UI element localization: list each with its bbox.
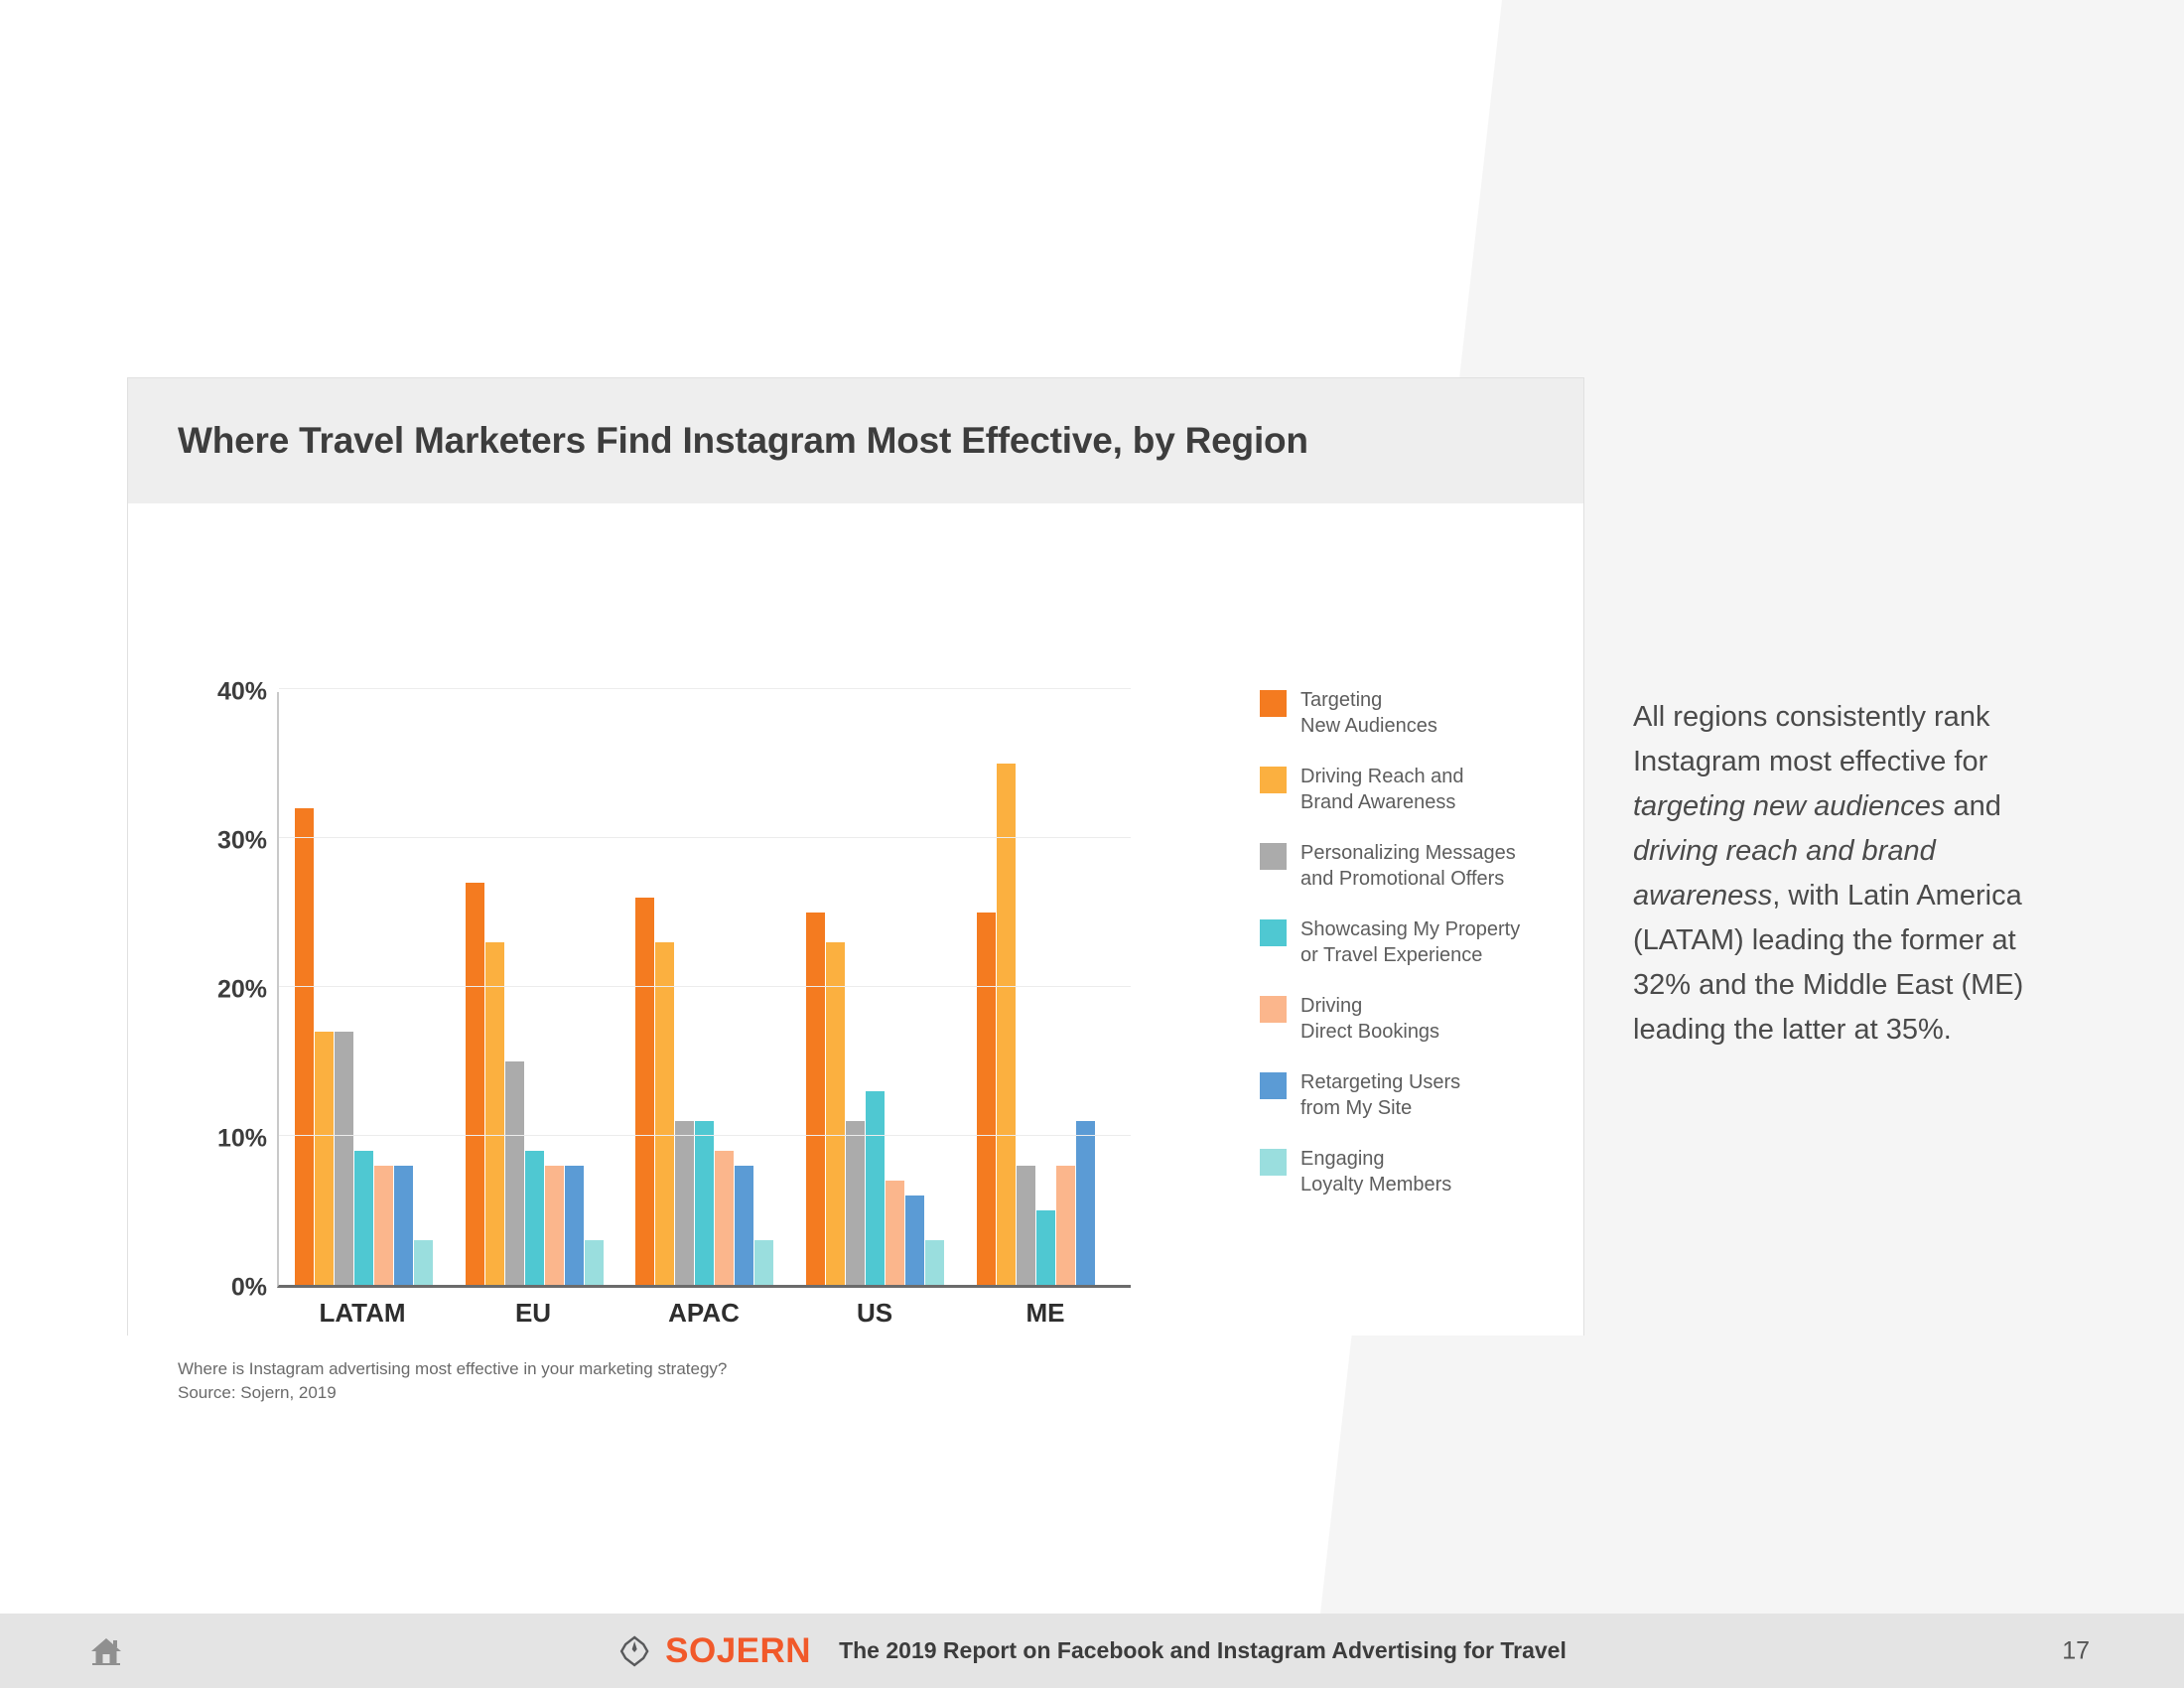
x-axis-label-apac: APAC <box>629 1298 778 1329</box>
gridline <box>279 1135 1131 1136</box>
footer-report-title: The 2019 Report on Facebook and Instagra… <box>839 1637 1567 1664</box>
bar[interactable] <box>1036 1210 1055 1285</box>
legend-item[interactable]: Personalizing Messages and Promotional O… <box>1260 840 1558 892</box>
bar[interactable] <box>335 1032 353 1285</box>
commentary-emphasis-1: targeting new audiences <box>1633 790 1945 822</box>
legend-color-swatch <box>1260 996 1287 1023</box>
legend-item[interactable]: Showcasing My Property or Travel Experie… <box>1260 916 1558 968</box>
bar[interactable] <box>374 1166 393 1285</box>
bar-group <box>635 692 773 1285</box>
legend-label: Driving Reach and Brand Awareness <box>1300 764 1464 815</box>
legend-item[interactable]: Driving Reach and Brand Awareness <box>1260 764 1558 815</box>
x-axis-label-eu: EU <box>459 1298 608 1329</box>
bar[interactable] <box>866 1091 885 1285</box>
commentary-text: All regions consistently rank Instagram … <box>1633 695 2080 1053</box>
footer-branding: SOJERN The 2019 Report on Facebook and I… <box>617 1631 1567 1671</box>
legend-item[interactable]: Targeting New Audiences <box>1260 687 1558 739</box>
legend-color-swatch <box>1260 843 1287 870</box>
legend-color-swatch <box>1260 1072 1287 1099</box>
slide-footer: SOJERN The 2019 Report on Facebook and I… <box>0 1614 2184 1688</box>
y-axis-tick: 0% <box>231 1274 267 1303</box>
bar[interactable] <box>394 1166 413 1285</box>
bar[interactable] <box>485 942 504 1285</box>
y-axis-tick: 40% <box>217 678 267 707</box>
bar[interactable] <box>826 942 845 1285</box>
legend-label: Driving Direct Bookings <box>1300 993 1439 1045</box>
bar[interactable] <box>295 808 314 1285</box>
bar[interactable] <box>806 913 825 1285</box>
sojern-compass-icon <box>617 1634 651 1668</box>
bar[interactable] <box>754 1240 773 1285</box>
bar-group <box>466 692 604 1285</box>
legend-label: Personalizing Messages and Promotional O… <box>1300 840 1516 892</box>
legend-label: Retargeting Users from My Site <box>1300 1069 1460 1121</box>
legend-item[interactable]: Retargeting Users from My Site <box>1260 1069 1558 1121</box>
y-axis-tick: 30% <box>217 827 267 856</box>
bar[interactable] <box>635 898 654 1285</box>
x-axis-category-labels: LATAMEUAPACUSME <box>277 1298 1131 1329</box>
bar[interactable] <box>715 1151 734 1285</box>
page-number: 17 <box>2062 1636 2090 1665</box>
bar[interactable] <box>1017 1166 1035 1285</box>
chart-legend: Targeting New AudiencesDriving Reach and… <box>1260 687 1558 1222</box>
legend-color-swatch <box>1260 767 1287 793</box>
footnote-question: Where is Instagram advertising most effe… <box>178 1357 727 1381</box>
gridline <box>279 986 1131 987</box>
legend-color-swatch <box>1260 690 1287 717</box>
bar[interactable] <box>695 1121 714 1285</box>
legend-color-swatch <box>1260 919 1287 946</box>
bar[interactable] <box>565 1166 584 1285</box>
slide-page: Where Travel Marketers Find Instagram Mo… <box>0 0 2184 1688</box>
bar[interactable] <box>735 1166 753 1285</box>
y-axis-tick: 10% <box>217 1125 267 1154</box>
bar[interactable] <box>315 1032 334 1285</box>
legend-color-swatch <box>1260 1149 1287 1176</box>
bar[interactable] <box>505 1061 524 1285</box>
x-axis-label-me: ME <box>971 1298 1120 1329</box>
x-axis-label-latam: LATAM <box>288 1298 437 1329</box>
commentary-part-2: and <box>1945 790 2000 822</box>
bar[interactable] <box>997 764 1016 1285</box>
bar[interactable] <box>655 942 674 1285</box>
bar[interactable] <box>675 1121 694 1285</box>
chart-footnote: Where is Instagram advertising most effe… <box>178 1357 727 1405</box>
gridline <box>279 688 1131 689</box>
bar[interactable] <box>354 1151 373 1285</box>
bar[interactable] <box>846 1121 865 1285</box>
bar[interactable] <box>905 1196 924 1285</box>
commentary-part-1: All regions consistently rank Instagram … <box>1633 701 1989 777</box>
x-axis-label-us: US <box>800 1298 949 1329</box>
bar-group <box>977 692 1115 1285</box>
bar[interactable] <box>925 1240 944 1285</box>
sojern-wordmark: SOJERN <box>665 1631 811 1671</box>
y-axis-tick-labels: 0%10%20%30%40% <box>168 692 267 1288</box>
bar[interactable] <box>525 1151 544 1285</box>
legend-label: Showcasing My Property or Travel Experie… <box>1300 916 1520 968</box>
chart-card-body: 0%10%20%30%40% LATAMEUAPACUSME Targeting… <box>128 503 1583 1336</box>
bar[interactable] <box>585 1240 604 1285</box>
plot-area <box>277 692 1131 1288</box>
bar[interactable] <box>466 883 484 1285</box>
legend-label: Engaging Loyalty Members <box>1300 1146 1451 1197</box>
bar[interactable] <box>977 913 996 1285</box>
y-axis-tick: 20% <box>217 976 267 1005</box>
bar-group <box>806 692 944 1285</box>
legend-item[interactable]: Driving Direct Bookings <box>1260 993 1558 1045</box>
footnote-source: Source: Sojern, 2019 <box>178 1381 727 1405</box>
chart-title: Where Travel Marketers Find Instagram Mo… <box>178 420 1308 462</box>
legend-item[interactable]: Engaging Loyalty Members <box>1260 1146 1558 1197</box>
bar[interactable] <box>1056 1166 1075 1285</box>
bar-group <box>295 692 433 1285</box>
chart-card: Where Travel Marketers Find Instagram Mo… <box>127 377 1584 1336</box>
legend-label: Targeting New Audiences <box>1300 687 1437 739</box>
gridline <box>279 837 1131 838</box>
bar[interactable] <box>545 1166 564 1285</box>
bar[interactable] <box>414 1240 433 1285</box>
bar[interactable] <box>1076 1121 1095 1285</box>
chart-card-header: Where Travel Marketers Find Instagram Mo… <box>128 378 1583 503</box>
home-icon[interactable] <box>89 1636 123 1666</box>
bar[interactable] <box>886 1181 904 1285</box>
bar-groups <box>279 692 1131 1285</box>
